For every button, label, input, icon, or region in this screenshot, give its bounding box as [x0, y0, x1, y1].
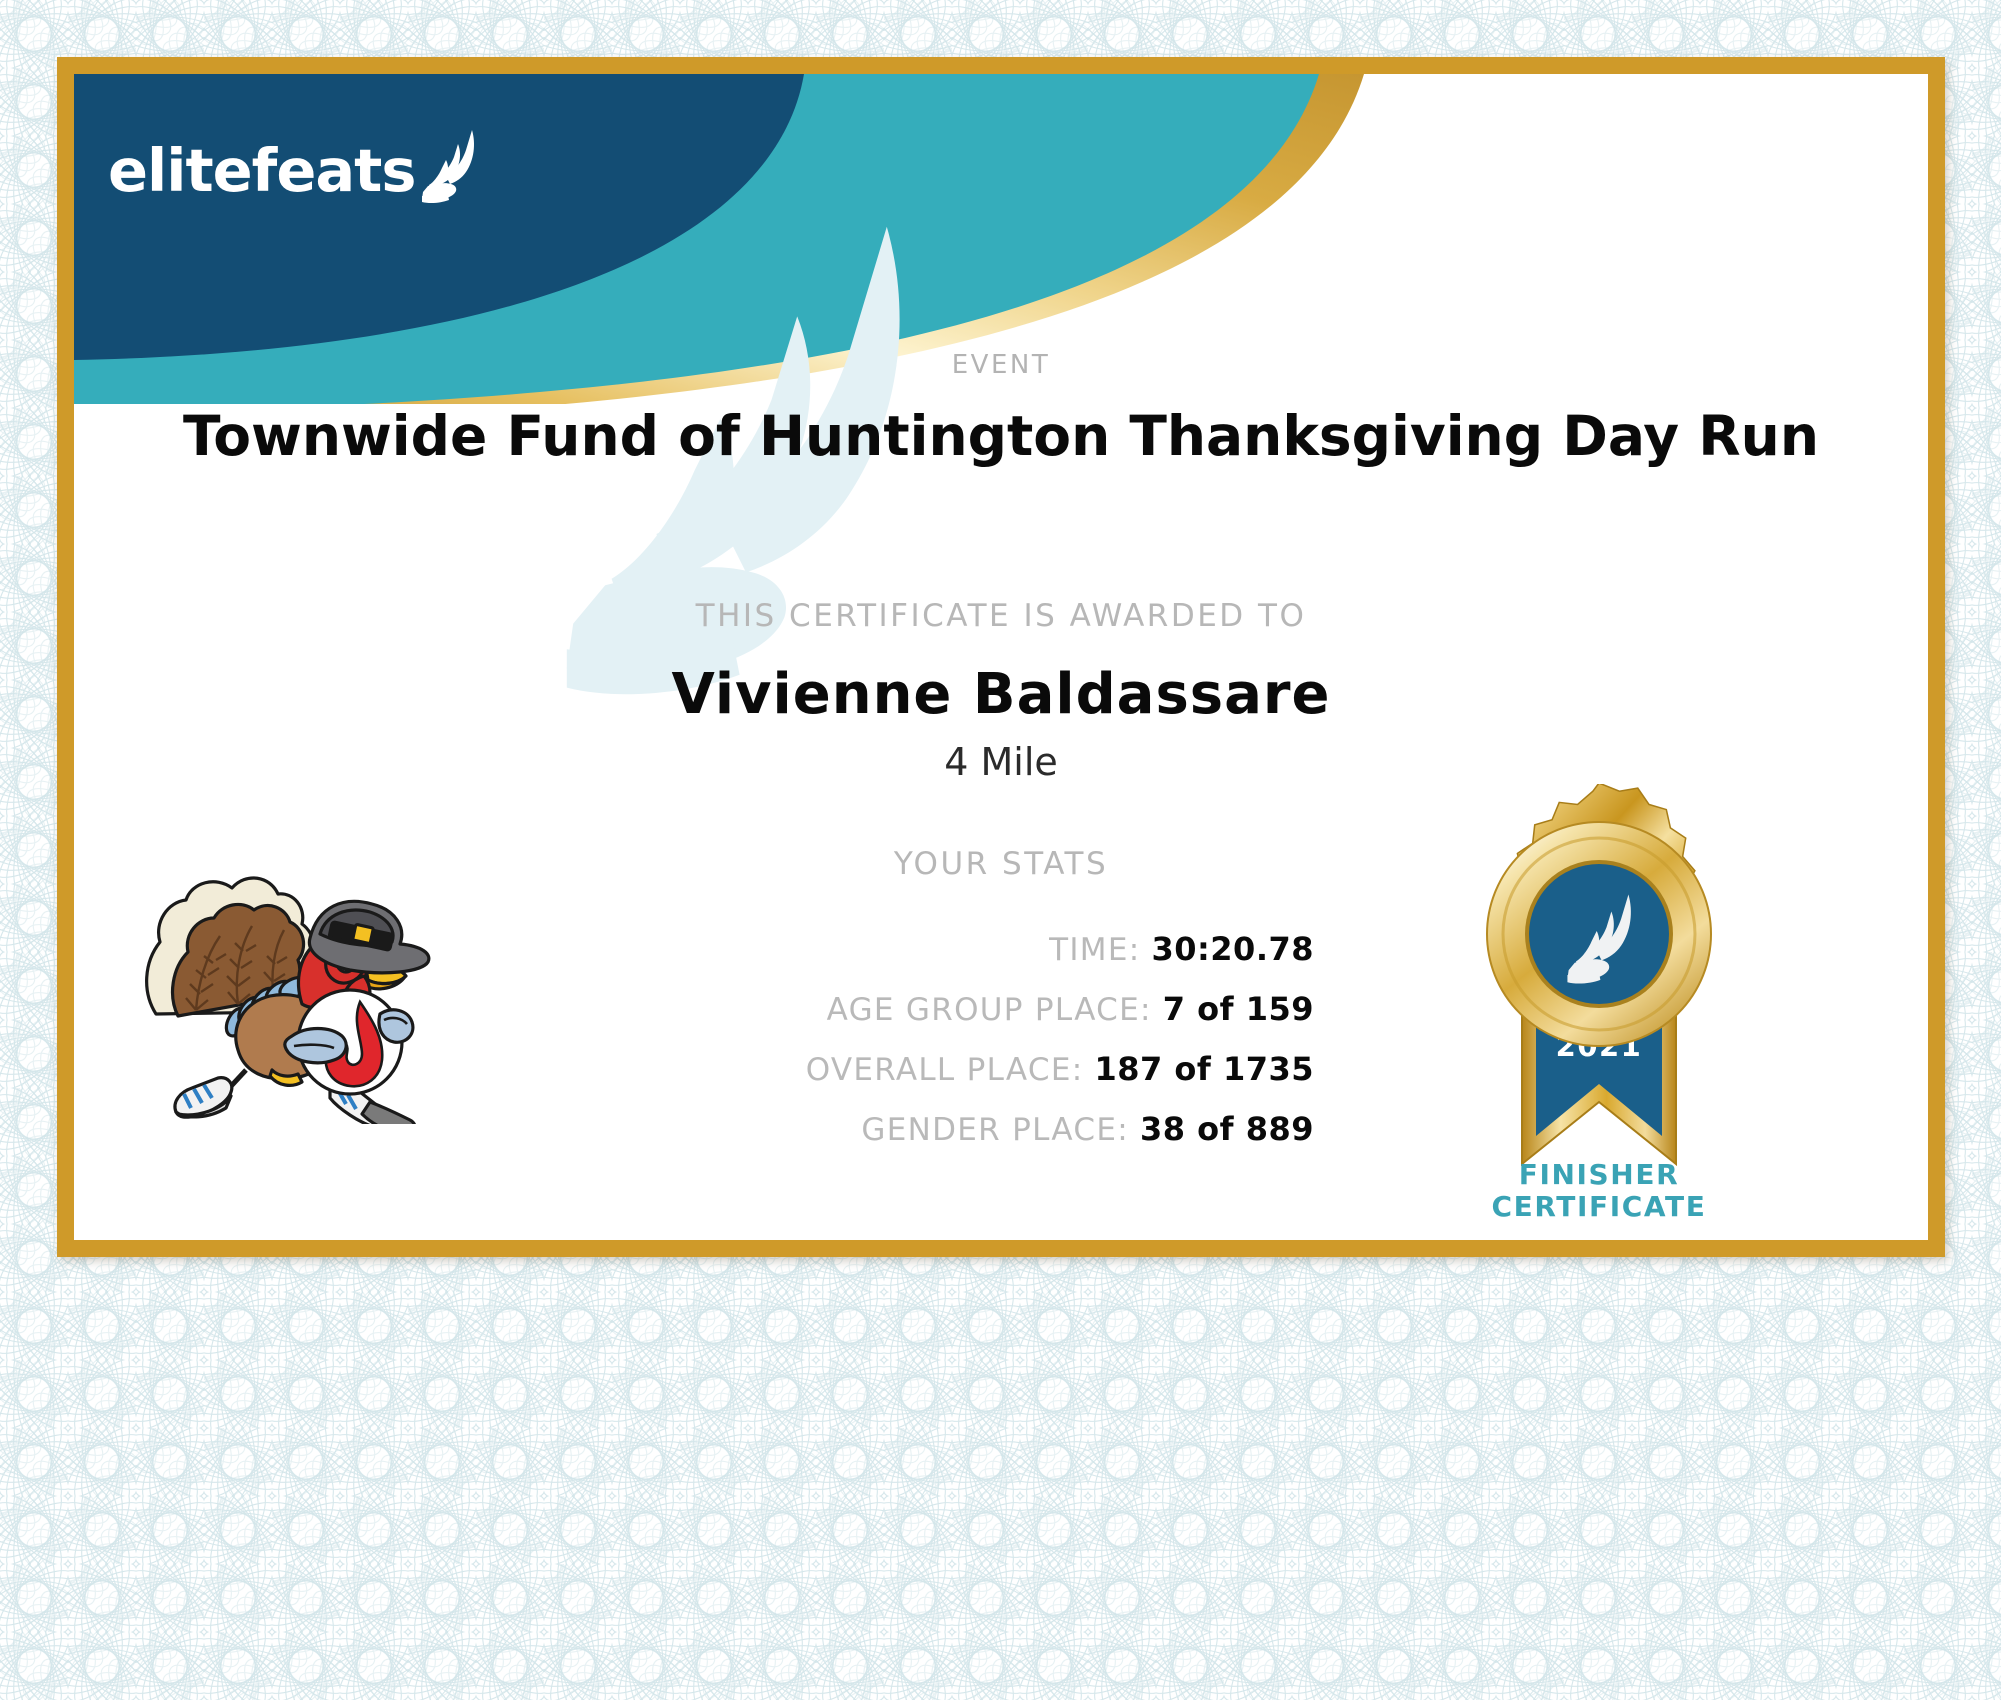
stat-label: OVERALL PLACE: [806, 1052, 1084, 1088]
stat-value: 38 of 889 [1140, 1110, 1314, 1148]
winged-foot-icon [420, 128, 492, 211]
certificate-root: elitefeats [0, 0, 2001, 1700]
medal-caption: FINISHER CERTIFICATE [1434, 1159, 1764, 1224]
recipient-name: Vivienne Baldassare [74, 662, 1928, 727]
medal-caption-line-2: CERTIFICATE [1434, 1191, 1764, 1223]
stat-label: TIME: [1049, 932, 1140, 968]
event-title: Townwide Fund of Huntington Thanksgiving… [74, 404, 1928, 468]
running-turkey-pilgrim-icon [134, 864, 434, 1124]
awarded-to-label: THIS CERTIFICATE IS AWARDED TO [74, 598, 1928, 634]
stat-value: 187 of 1735 [1094, 1050, 1314, 1088]
finisher-medal-badge: 2021 [1444, 784, 1754, 1204]
certificate-content: EVENT Townwide Fund of Huntington Thanks… [74, 74, 1928, 1240]
stat-value: 7 of 159 [1163, 990, 1314, 1028]
stat-value: 30:20.78 [1151, 930, 1314, 968]
stat-label: AGE GROUP PLACE: [827, 992, 1152, 1028]
medal-caption-line-1: FINISHER [1434, 1159, 1764, 1191]
race-distance: 4 Mile [74, 740, 1928, 784]
brand-logo: elitefeats [108, 128, 492, 200]
event-label: EVENT [74, 350, 1928, 380]
brand-wordmark: elitefeats [108, 141, 416, 200]
stat-label: GENDER PLACE: [861, 1112, 1129, 1148]
certificate-canvas: elitefeats [74, 74, 1928, 1240]
